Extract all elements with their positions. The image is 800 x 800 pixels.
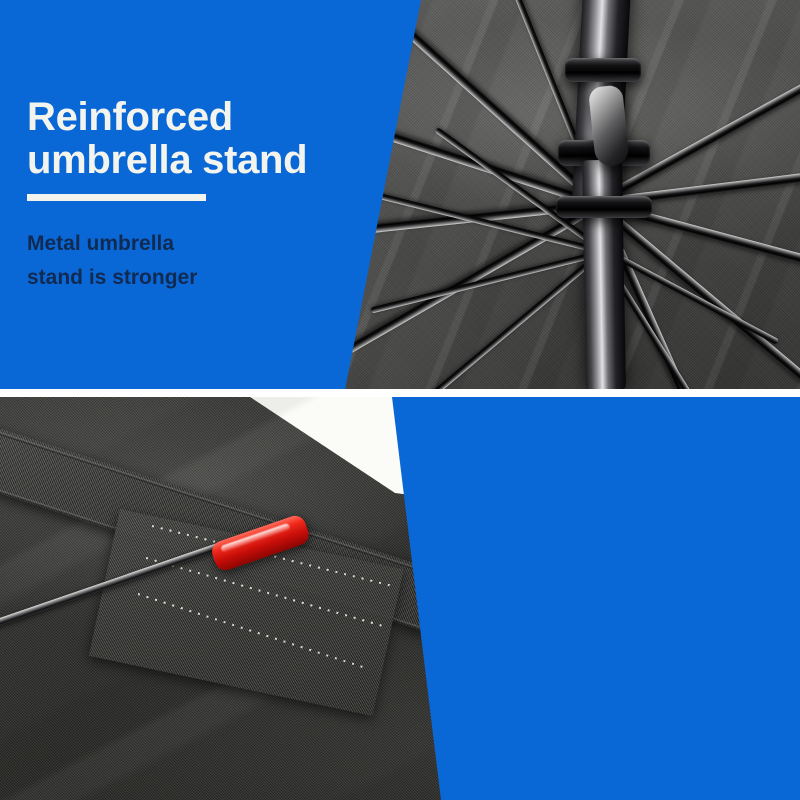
feature-panel-reinforced-umbrella-stand: Reinforced umbrella stand Metal umbrella… [0, 0, 800, 390]
feature-panel-wrap-design: Wrap design New and unique design Wrap d… [0, 397, 800, 800]
feature-text-top: Reinforced umbrella stand Metal umbrella… [27, 96, 357, 295]
umbrella-lower-collar [556, 196, 652, 218]
umbrella-runner-collar [565, 58, 641, 82]
headline-underline-top [27, 194, 206, 201]
product-feature-banner: Reinforced umbrella stand Metal umbrella… [0, 0, 800, 800]
umbrella-lower-shaft [582, 160, 626, 390]
subtext-reinforced-umbrella-stand: Metal umbrella stand is stronger [27, 227, 357, 295]
headline-reinforced-umbrella-stand: Reinforced umbrella stand [27, 96, 357, 182]
